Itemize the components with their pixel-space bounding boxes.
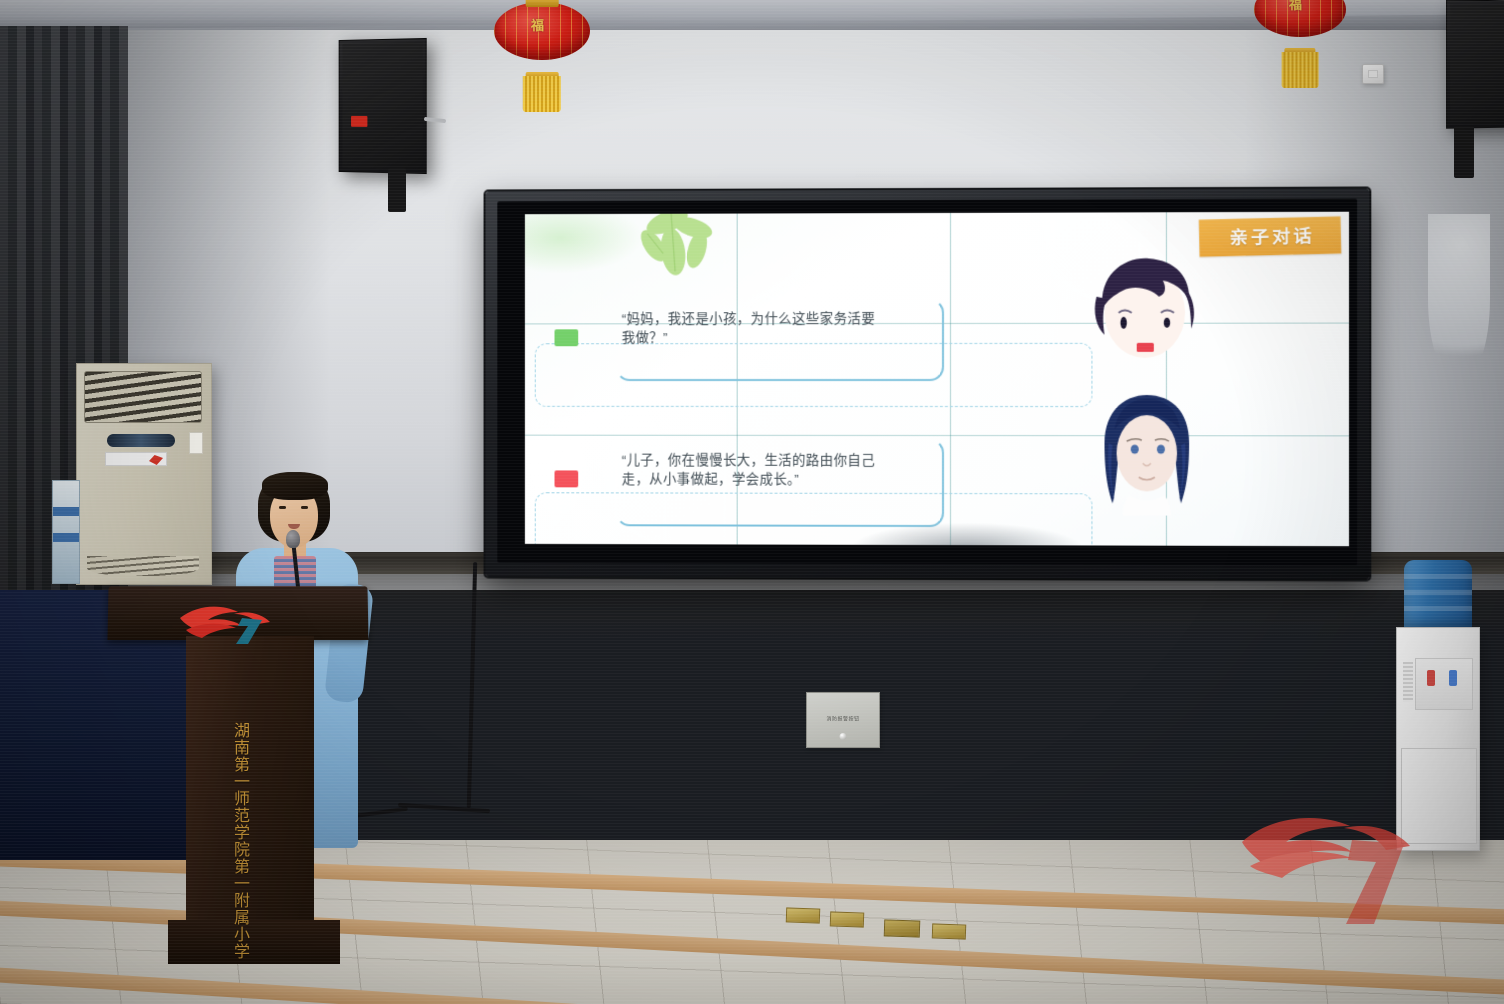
mother-avatar	[1084, 391, 1209, 518]
speaker-grille	[342, 42, 422, 170]
lantern-body: 福	[1254, 0, 1346, 37]
ac-sticker	[105, 452, 167, 466]
podium-plaque-text: 湖南第一师范学院第一附属小学	[224, 722, 248, 960]
wall-speaker-right	[1446, 0, 1504, 129]
panel-seam	[525, 435, 1349, 437]
red-lantern-right: 福	[1254, 0, 1346, 52]
bubble-text-child: “妈妈，我还是小孩，为什么这些家务活要我做？”	[622, 309, 888, 347]
podium-base	[168, 920, 340, 964]
panel-label: 消防报警按钮	[826, 715, 859, 722]
jbl-logo-icon	[351, 116, 367, 127]
leaf-glow	[525, 214, 644, 274]
floor-outlet-cover	[830, 911, 865, 927]
ac-bottom-vent	[87, 556, 199, 576]
air-conditioner	[76, 363, 212, 585]
stacked-boxes	[52, 480, 80, 584]
water-bottle	[1404, 560, 1472, 632]
hot-water-tap[interactable]	[1427, 670, 1435, 686]
lantern-cap-top	[526, 0, 559, 7]
floor-outlet-cover	[932, 923, 967, 939]
wall-control-panel[interactable]: 消防报警按钮	[806, 692, 880, 748]
ac-grille	[84, 371, 202, 423]
ac-brand-badge	[107, 434, 175, 447]
speaker-bracket	[388, 168, 406, 212]
speaker-grille	[1450, 3, 1504, 124]
school-flame-logo-watermark	[1236, 800, 1426, 930]
lantern-tassel	[1282, 52, 1319, 88]
red-lantern-left: 福	[494, 2, 590, 76]
flame-bird-logo	[176, 600, 286, 648]
ac-sticker-logo-icon	[149, 455, 163, 465]
slide-bottom-graphic	[852, 523, 1082, 546]
red-chip	[555, 470, 579, 487]
lantern-glyph: 福	[494, 15, 590, 34]
slide-canvas: 亲子对话 “妈妈，我还是小孩，为什么这些家务活要我做？” “儿子，你在慢慢长大，…	[525, 212, 1349, 546]
ac-energy-label	[189, 432, 203, 454]
boy-avatar	[1078, 250, 1209, 371]
wall-speaker-left	[339, 38, 427, 174]
wall-switch[interactable]	[1362, 64, 1384, 84]
photo-scene: 福 福 消防报警按钮	[0, 0, 1504, 1004]
wall-ornament	[1428, 214, 1490, 384]
presenter-eye	[301, 506, 308, 509]
podium-body	[186, 636, 314, 954]
panel-button-icon[interactable]	[840, 733, 847, 740]
floor-outlet-cover	[884, 919, 921, 937]
speaker-bracket	[1454, 126, 1474, 178]
display-screen[interactable]: 亲子对话 “妈妈，我还是小孩，为什么这些家务活要我做？” “儿子，你在慢慢长大，…	[486, 188, 1370, 579]
bubble-text-mother: “儿子，你在慢慢长大，生活的路由你自己走，从小事做起，学会成长。”	[622, 451, 888, 490]
presenter-fringe	[262, 472, 328, 500]
cooler-dispenser-recess	[1415, 658, 1473, 710]
slide-banner: 亲子对话	[1199, 216, 1341, 257]
lantern-body: 福	[494, 2, 590, 60]
green-chip	[555, 329, 579, 346]
lantern-glyph: 福	[1254, 0, 1346, 13]
cooler-vent	[1403, 662, 1413, 702]
floor-outlet-cover	[786, 907, 821, 923]
microphone-icon[interactable]	[286, 530, 300, 548]
banner-label: 亲子对话	[1229, 226, 1314, 248]
lantern-tassel	[523, 76, 561, 112]
cold-water-tap[interactable]	[1449, 670, 1457, 686]
presenter-eye	[279, 506, 286, 509]
screen-bezel: 亲子对话 “妈妈，我还是小孩，为什么这些家务活要我做？” “儿子，你在慢慢长大，…	[497, 199, 1357, 566]
